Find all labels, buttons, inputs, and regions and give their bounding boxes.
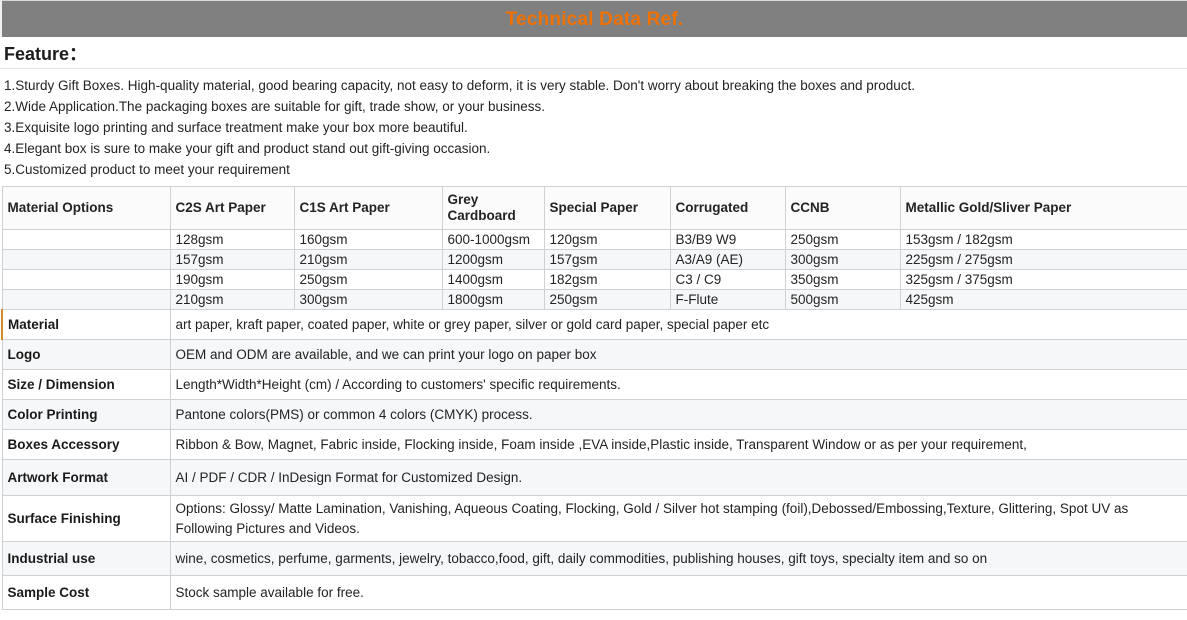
technical-data-page: Technical Data Ref. Feature： 1.Sturdy Gi… [0,0,1187,620]
table-row-industrial-use: Industrial use wine, cosmetics, perfume,… [2,542,1187,576]
row-value-logo: OEM and ODM are available, and we can pr… [170,340,1187,370]
cell: 1200gsm [442,250,544,270]
cell: 182gsm [544,270,670,290]
row-label-surface-finishing: Surface Finishing [2,496,170,542]
row-value-surface-finishing: Options: Glossy/ Matte Lamination, Vanis… [170,496,1187,542]
table-row-sample-cost: Sample Cost Stock sample available for f… [2,576,1187,610]
table-row: 157gsm 210gsm 1200gsm 157gsm A3/A9 (AE) … [2,250,1187,270]
cell: F-Flute [670,290,785,310]
cell [2,290,170,310]
row-value-sample-cost: Stock sample available for free. [170,576,1187,610]
cell: 250gsm [544,290,670,310]
cell: 425gsm [900,290,1187,310]
table-row: 128gsm 160gsm 600-1000gsm 120gsm B3/B9 W… [2,230,1187,250]
cell: A3/A9 (AE) [670,250,785,270]
row-label-boxes-accessory: Boxes Accessory [2,430,170,460]
row-label-material: Material [2,310,170,340]
table-row-artwork-format: Artwork Format AI / PDF / CDR / InDesign… [2,460,1187,496]
cell: 250gsm [785,230,900,250]
page-title-bar: Technical Data Ref. [0,0,1187,37]
feature-heading-row: Feature： [0,37,1187,69]
feature-list: 1.Sturdy Gift Boxes. High-quality materi… [0,69,1187,186]
feature-line: 2.Wide Application.The packaging boxes a… [4,96,1187,117]
cell: 128gsm [170,230,294,250]
cell [2,230,170,250]
cell: 350gsm [785,270,900,290]
cell: 153gsm / 182gsm [900,230,1187,250]
row-value-size-dimension: Length*Width*Height (cm) / According to … [170,370,1187,400]
row-label-size-dimension: Size / Dimension [2,370,170,400]
column-header-grey-cardboard: Grey Cardboard [442,187,544,230]
cell [2,250,170,270]
cell: 250gsm [294,270,442,290]
cell: 325gsm / 375gsm [900,270,1187,290]
cell: 225gsm / 275gsm [900,250,1187,270]
row-value-industrial-use: wine, cosmetics, perfume, garments, jewe… [170,542,1187,576]
column-header-special-paper: Special Paper [544,187,670,230]
column-header-corrugated: Corrugated [670,187,785,230]
table-row-material: Material art paper, kraft paper, coated … [2,310,1187,340]
feature-heading: Feature： [4,40,87,66]
cell: 190gsm [170,270,294,290]
cell: 1400gsm [442,270,544,290]
column-header-c1s-art-paper: C1S Art Paper [294,187,442,230]
specification-table: Material Options C2S Art Paper C1S Art P… [1,186,1187,610]
table-row-boxes-accessory: Boxes Accessory Ribbon & Bow, Magnet, Fa… [2,430,1187,460]
table-row: 210gsm 300gsm 1800gsm 250gsm F-Flute 500… [2,290,1187,310]
cell: 160gsm [294,230,442,250]
cell: B3/B9 W9 [670,230,785,250]
table-header-row: Material Options C2S Art Paper C1S Art P… [2,187,1187,230]
row-label-color-printing: Color Printing [2,400,170,430]
cell: 1800gsm [442,290,544,310]
cell: 500gsm [785,290,900,310]
row-value-boxes-accessory: Ribbon & Bow, Magnet, Fabric inside, Flo… [170,430,1187,460]
row-label-artwork-format: Artwork Format [2,460,170,496]
cell: 157gsm [170,250,294,270]
feature-line: 4.Elegant box is sure to make your gift … [4,138,1187,159]
cell: 300gsm [294,290,442,310]
table-row-size-dimension: Size / Dimension Length*Width*Height (cm… [2,370,1187,400]
cell: 120gsm [544,230,670,250]
cell: 210gsm [294,250,442,270]
cell: 210gsm [170,290,294,310]
row-label-sample-cost: Sample Cost [2,576,170,610]
row-value-material: art paper, kraft paper, coated paper, wh… [170,310,1187,340]
row-label-logo: Logo [2,340,170,370]
cell: 600-1000gsm [442,230,544,250]
feature-line: 1.Sturdy Gift Boxes. High-quality materi… [4,75,1187,96]
cell: 300gsm [785,250,900,270]
table-row-logo: Logo OEM and ODM are available, and we c… [2,340,1187,370]
feature-line: 3.Exquisite logo printing and surface tr… [4,117,1187,138]
row-value-artwork-format: AI / PDF / CDR / InDesign Format for Cus… [170,460,1187,496]
column-header-c2s-art-paper: C2S Art Paper [170,187,294,230]
row-label-industrial-use: Industrial use [2,542,170,576]
cell: C3 / C9 [670,270,785,290]
feature-line: 5.Customized product to meet your requir… [4,159,1187,180]
table-row: 190gsm 250gsm 1400gsm 182gsm C3 / C9 350… [2,270,1187,290]
table-row-color-printing: Color Printing Pantone colors(PMS) or co… [2,400,1187,430]
page-title: Technical Data Ref. [506,10,684,29]
column-header-material-options: Material Options [2,187,170,230]
row-value-color-printing: Pantone colors(PMS) or common 4 colors (… [170,400,1187,430]
cell: 157gsm [544,250,670,270]
column-header-metallic-gold-sliver-paper: Metallic Gold/Sliver Paper [900,187,1187,230]
table-row-surface-finishing: Surface Finishing Options: Glossy/ Matte… [2,496,1187,542]
cell [2,270,170,290]
column-header-ccnb: CCNB [785,187,900,230]
